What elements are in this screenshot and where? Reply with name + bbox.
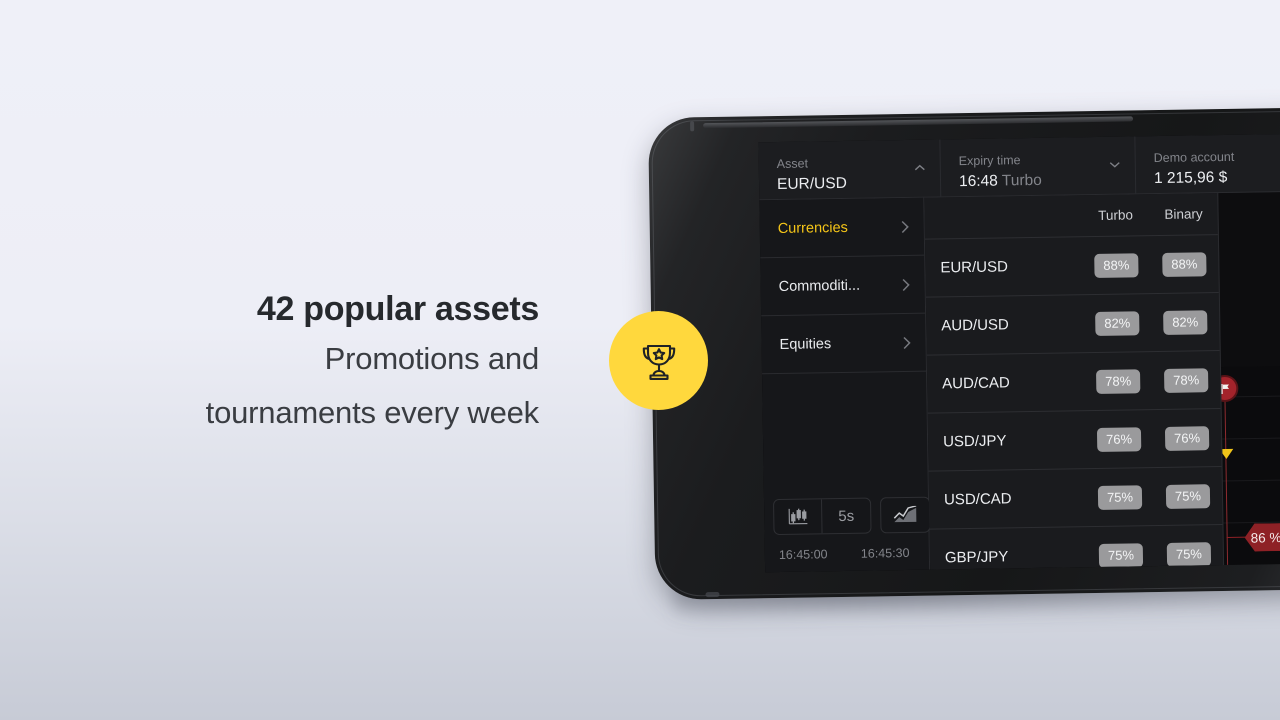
- turbo-payout[interactable]: 75%: [1086, 485, 1154, 510]
- table-row[interactable]: USD/CAD 75% 75%: [929, 467, 1223, 530]
- binary-payout[interactable]: 88%: [1150, 252, 1218, 277]
- asset-name: USD/JPY: [943, 431, 1085, 450]
- turbo-payout[interactable]: 76%: [1085, 427, 1153, 452]
- chevron-up-icon: [914, 164, 926, 172]
- column-header-turbo: Turbo: [1081, 207, 1149, 223]
- account-label: Demo account: [1154, 147, 1280, 166]
- expiry-label: Expiry time: [959, 150, 1121, 169]
- binary-payout[interactable]: 76%: [1153, 426, 1221, 451]
- asset-name: AUD/CAD: [942, 373, 1084, 392]
- sidebar-item-equities[interactable]: Equities: [761, 314, 926, 375]
- asset-table-header: Turbo Binary: [924, 193, 1218, 240]
- sidebar-item-currencies[interactable]: Currencies: [759, 198, 924, 259]
- subheadline-line-1: Promotions and: [0, 332, 539, 386]
- expiry-mode: Turbo: [1002, 171, 1042, 189]
- binary-payout[interactable]: 75%: [1154, 484, 1222, 509]
- category-label: Currencies: [778, 219, 848, 236]
- phone-sensor: [690, 121, 694, 131]
- expiry-selector[interactable]: Expiry time 16:48 Turbo: [940, 136, 1136, 196]
- candlestick-chart-icon: [787, 507, 809, 527]
- chart-toolbar[interactable]: 5s: [773, 497, 931, 535]
- chevron-right-icon: [902, 335, 911, 349]
- asset-value: EUR/USD: [777, 172, 926, 194]
- chevron-down-icon: [1109, 161, 1121, 169]
- chart-type-group[interactable]: 5s: [773, 498, 872, 536]
- turbo-payout[interactable]: 75%: [1087, 543, 1155, 568]
- asset-list-panel: Turbo Binary EUR/USD 88% 88% AUD/USD 82%…: [924, 193, 1224, 570]
- marketing-copy: 42 popular assets Promotions and tournam…: [0, 286, 560, 440]
- phone-speaker: [703, 116, 1133, 128]
- asset-name: EUR/USD: [940, 257, 1082, 276]
- category-label: Equities: [779, 336, 831, 353]
- area-chart-button[interactable]: [881, 498, 930, 533]
- time-tick: 16:45:30: [861, 546, 910, 561]
- time-tick: 16:45:00: [779, 547, 828, 562]
- expiry-time: 16:48: [959, 172, 998, 190]
- table-row[interactable]: EUR/USD 88% 88%: [925, 235, 1219, 298]
- table-row[interactable]: USD/JPY 76% 76%: [928, 409, 1222, 472]
- turbo-payout[interactable]: 82%: [1083, 311, 1151, 336]
- app-topbar: Asset EUR/USD Expiry time 16:48 Turbo: [758, 133, 1280, 200]
- turbo-payout[interactable]: 88%: [1082, 253, 1150, 278]
- sidebar-item-commodities[interactable]: Commoditi...: [760, 256, 925, 317]
- subheadline-line-2: tournaments every week: [0, 386, 539, 440]
- table-row[interactable]: AUD/USD 82% 82%: [926, 293, 1220, 356]
- timeframe-button[interactable]: 5s: [822, 499, 871, 534]
- asset-name: GBP/JPY: [945, 547, 1087, 566]
- phone-mockup: Asset EUR/USD Expiry time 16:48 Turbo: [648, 107, 1280, 610]
- trophy-icon: [633, 335, 685, 387]
- account-selector[interactable]: Demo account 1 215,96 $: [1135, 133, 1280, 193]
- binary-payout[interactable]: 75%: [1155, 542, 1223, 567]
- area-chart-icon: [893, 506, 917, 524]
- asset-selector[interactable]: Asset EUR/USD: [758, 139, 941, 199]
- turbo-payout[interactable]: 78%: [1084, 369, 1152, 394]
- phone-bottom-port: [705, 592, 719, 597]
- payout-connector: [1227, 537, 1247, 538]
- app-screen: Asset EUR/USD Expiry time 16:48 Turbo: [758, 133, 1280, 572]
- asset-name: USD/CAD: [944, 489, 1086, 508]
- category-label: Commoditi...: [779, 277, 861, 294]
- table-row[interactable]: GBP/JPY 75% 75%: [930, 525, 1224, 570]
- binary-payout[interactable]: 82%: [1151, 310, 1219, 335]
- table-row[interactable]: AUD/CAD 78% 78%: [927, 351, 1221, 414]
- column-header-binary: Binary: [1149, 206, 1217, 222]
- candlestick-chart-button[interactable]: [774, 499, 823, 534]
- account-balance: 1 215,96 $: [1154, 166, 1280, 189]
- expiry-value: 16:48 Turbo: [959, 169, 1121, 192]
- chevron-right-icon: [902, 277, 911, 291]
- area-chart-group[interactable]: [880, 497, 931, 534]
- chevron-right-icon: [901, 219, 910, 233]
- phone-body: Asset EUR/USD Expiry time 16:48 Turbo: [648, 107, 1280, 600]
- headline: 42 popular assets: [0, 286, 539, 332]
- asset-name: AUD/USD: [941, 315, 1083, 334]
- asset-label: Asset: [777, 153, 926, 171]
- trophy-badge: [609, 311, 708, 410]
- binary-payout[interactable]: 78%: [1152, 368, 1220, 393]
